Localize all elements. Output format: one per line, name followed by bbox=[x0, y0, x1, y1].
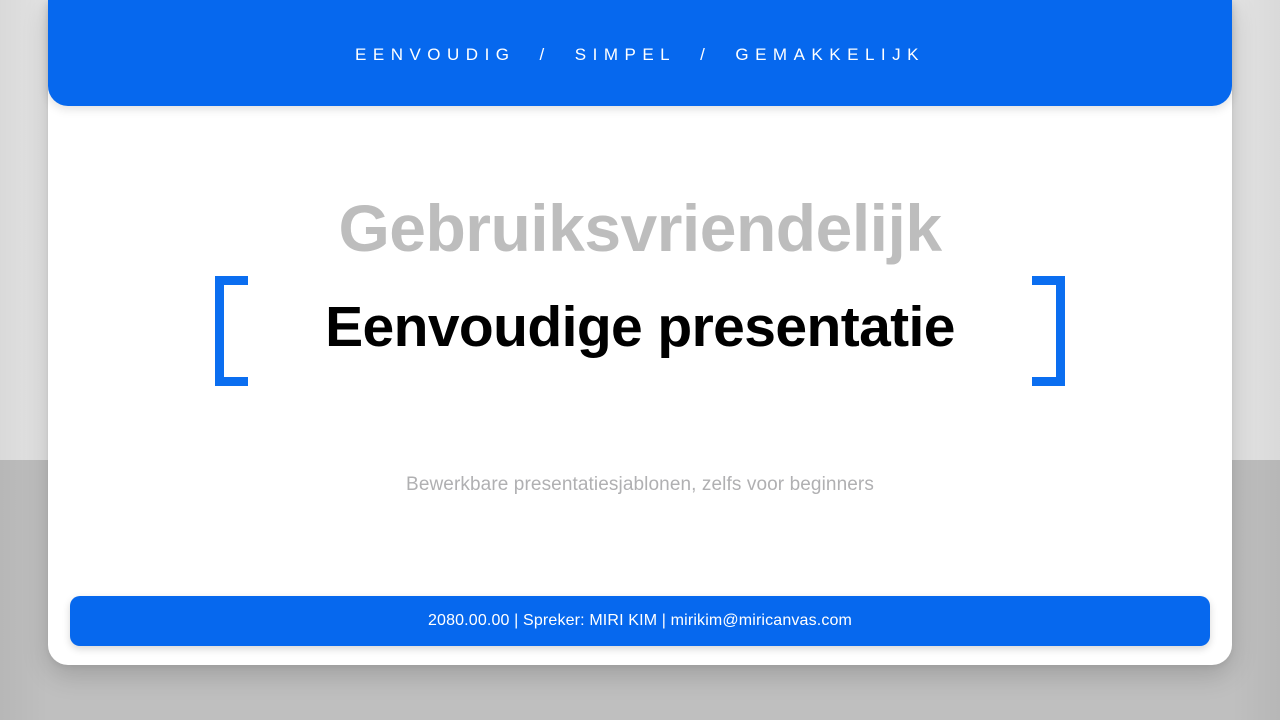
tagline-separator-1: / bbox=[516, 45, 575, 65]
background-left-shade bbox=[0, 0, 48, 720]
slide-footer-text: 2080.00.00 | Spreker: MIRI KIM | mirikim… bbox=[428, 612, 852, 630]
tagline-separator-2: / bbox=[676, 45, 735, 65]
tagline-word-1: EENVOUDIG bbox=[355, 45, 516, 65]
banner-tagline: EENVOUDIG / SIMPEL / GEMAKKELIJK bbox=[355, 45, 925, 65]
tagline-word-2: SIMPEL bbox=[575, 45, 676, 65]
main-title-row: Eenvoudige presentatie bbox=[48, 271, 1232, 383]
slide-subtitle-text: Bewerkbare presentatiesjablonen, zelfs v… bbox=[406, 468, 874, 502]
slide-stage: EENVOUDIG / SIMPEL / GEMAKKELIJK Gebruik… bbox=[0, 0, 1280, 720]
slide-footer-bar: 2080.00.00 | Spreker: MIRI KIM | mirikim… bbox=[70, 596, 1210, 646]
tagline-word-3: GEMAKKELIJK bbox=[735, 45, 925, 65]
presentation-slide-card: EENVOUDIG / SIMPEL / GEMAKKELIJK Gebruik… bbox=[48, 0, 1232, 665]
left-bracket-icon bbox=[215, 276, 248, 386]
slide-subtitle: Bewerkbare presentatiesjablonen, zelfs v… bbox=[48, 468, 1232, 502]
headline-block: Gebruiksvriendelijk Eenvoudige presentat… bbox=[48, 195, 1232, 383]
slide-top-banner: EENVOUDIG / SIMPEL / GEMAKKELIJK bbox=[48, 0, 1232, 106]
page-title: Eenvoudige presentatie bbox=[325, 299, 955, 356]
right-bracket-icon bbox=[1032, 276, 1065, 386]
ghost-title: Gebruiksvriendelijk bbox=[48, 195, 1232, 261]
background-right-shade bbox=[1232, 0, 1280, 720]
